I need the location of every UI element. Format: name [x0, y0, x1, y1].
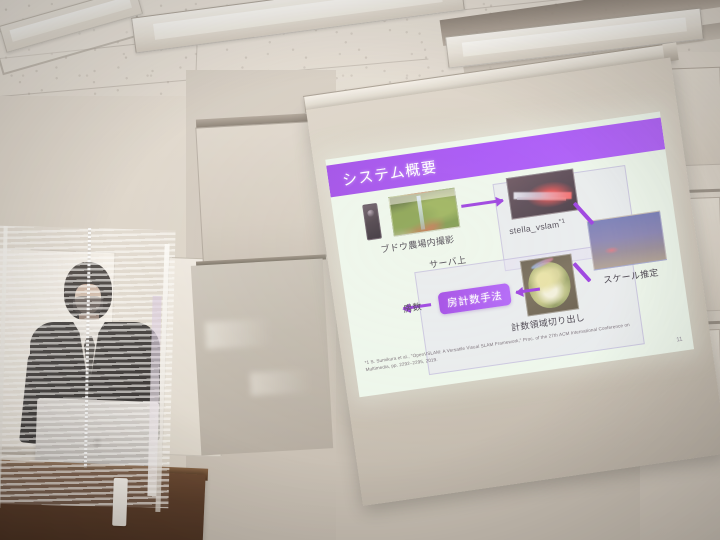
scale-highlight: [603, 246, 620, 255]
rolled-projection-screen: [195, 121, 328, 264]
projection-screen: システム概要: [306, 58, 720, 506]
lecture-room-photo: システム概要: [0, 0, 720, 540]
podium: [0, 465, 206, 540]
label-capture: ブドウ農場内撮影: [380, 232, 455, 255]
blackboard-glare: [205, 318, 272, 348]
label-slam-citation: *1: [559, 218, 566, 225]
partition-foot-clamp: [112, 478, 128, 526]
laptop-logo: [92, 434, 103, 447]
camera-lens-icon: [367, 209, 375, 217]
method-box-label: 房計数手法: [446, 287, 503, 310]
scale-estimation-thumbnail: [587, 211, 667, 271]
blackboard-glare: [250, 370, 312, 396]
cropped-region-thumbnail: [520, 254, 579, 317]
blackboard: [191, 258, 333, 455]
slide-title: システム概要: [341, 156, 439, 190]
slide-page-number: 11: [676, 337, 683, 344]
label-bunch-count: 房数: [402, 300, 422, 316]
slam-trajectory: [517, 197, 566, 201]
vineyard-photo-thumbnail: [388, 188, 460, 237]
vineyard-post: [417, 195, 426, 230]
presentation-slide: システム概要: [325, 112, 694, 398]
camera-device-thumbnail: [362, 203, 382, 241]
